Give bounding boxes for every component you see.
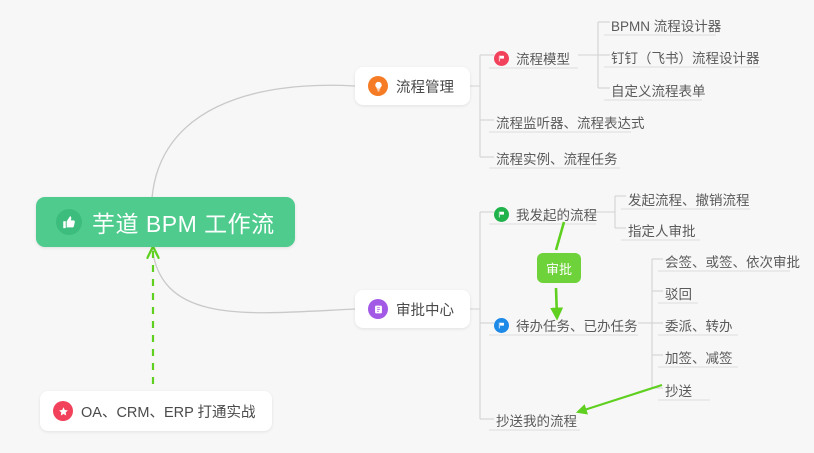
clipboard-icon xyxy=(368,299,388,319)
flag-blue-icon xyxy=(494,318,509,333)
node-label-dingtalk-feishu-designer: 钉钉（飞书）流程设计器 xyxy=(611,52,760,66)
node-label-instance-task: 流程实例、流程任务 xyxy=(496,153,618,167)
node-instance-task[interactable]: 流程实例、流程任务 xyxy=(491,143,624,169)
node-label-carbon-copy: 抄送 xyxy=(665,385,692,399)
node-label-countersign: 会签、或签、依次审批 xyxy=(665,256,800,270)
branch-label-process-management: 流程管理 xyxy=(396,76,454,97)
mindmap-canvas: 芋道 BPM 工作流 流程管理 流程模型 BPMN 流程设计器 钉钉（飞书）流程… xyxy=(0,0,814,453)
branch-node-approval-center[interactable]: 审批中心 xyxy=(355,290,470,328)
branch-node-process-management[interactable]: 流程管理 xyxy=(355,67,470,105)
node-delegate-transfer[interactable]: 委派、转办 xyxy=(660,310,739,336)
curve-root-to-process-management xyxy=(152,85,355,198)
node-label-bpmn-designer: BPMN 流程设计器 xyxy=(611,20,721,34)
lightbulb-icon xyxy=(368,76,388,96)
node-add-remove-sign[interactable]: 加签、减签 xyxy=(660,342,739,368)
node-label-my-initiated: 我发起的流程 xyxy=(516,209,597,223)
arrow-cc-to-ccme xyxy=(578,385,662,412)
node-custom-process-form[interactable]: 自定义流程表单 xyxy=(606,75,712,101)
node-label-reject: 驳回 xyxy=(665,288,692,302)
node-listener-expression[interactable]: 流程监听器、流程表达式 xyxy=(491,107,651,133)
approval-badge-label: 审批 xyxy=(546,259,572,278)
node-label-cc-to-me: 抄送我的流程 xyxy=(496,415,577,429)
node-label-todo-done-task: 待办任务、已办任务 xyxy=(516,320,638,334)
node-bpmn-designer[interactable]: BPMN 流程设计器 xyxy=(606,10,727,36)
bottom-note-label: OA、CRM、ERP 打通实战 xyxy=(81,401,256,422)
node-dingtalk-feishu-designer[interactable]: 钉钉（飞书）流程设计器 xyxy=(606,42,766,68)
thumbs-up-icon xyxy=(56,209,82,235)
root-label: 芋道 BPM 工作流 xyxy=(92,205,275,239)
flag-green-icon xyxy=(494,207,509,222)
node-label-start-cancel: 发起流程、撤销流程 xyxy=(628,194,750,208)
curve-root-to-approval-center xyxy=(152,246,355,313)
arrow-initiated-to-todo-upper xyxy=(556,222,564,250)
node-label-listener-expression: 流程监听器、流程表达式 xyxy=(496,117,645,131)
node-label-delegate-transfer: 委派、转办 xyxy=(665,320,733,334)
node-label-assignee-approval: 指定人审批 xyxy=(628,225,696,239)
star-icon xyxy=(53,401,73,421)
node-todo-done-task[interactable]: 待办任务、已办任务 xyxy=(491,310,644,336)
node-process-model[interactable]: 流程模型 xyxy=(491,43,576,69)
node-cc-to-me[interactable]: 抄送我的流程 xyxy=(491,405,583,431)
node-carbon-copy[interactable]: 抄送 xyxy=(660,375,698,401)
node-countersign[interactable]: 会签、或签、依次审批 xyxy=(660,246,806,272)
node-start-cancel[interactable]: 发起流程、撤销流程 xyxy=(623,184,756,210)
node-label-add-remove-sign: 加签、减签 xyxy=(665,352,733,366)
node-my-initiated[interactable]: 我发起的流程 xyxy=(491,199,603,225)
root-node[interactable]: 芋道 BPM 工作流 xyxy=(36,197,295,247)
flag-red-icon xyxy=(494,51,509,66)
node-label-process-model: 流程模型 xyxy=(516,53,570,67)
approval-badge: 审批 xyxy=(537,253,581,283)
bottom-note-node[interactable]: OA、CRM、ERP 打通实战 xyxy=(40,391,272,431)
node-reject[interactable]: 驳回 xyxy=(660,278,698,304)
branch-label-approval-center: 审批中心 xyxy=(396,299,454,320)
node-label-custom-process-form: 自定义流程表单 xyxy=(611,85,706,99)
node-assignee-approval[interactable]: 指定人审批 xyxy=(623,215,702,241)
